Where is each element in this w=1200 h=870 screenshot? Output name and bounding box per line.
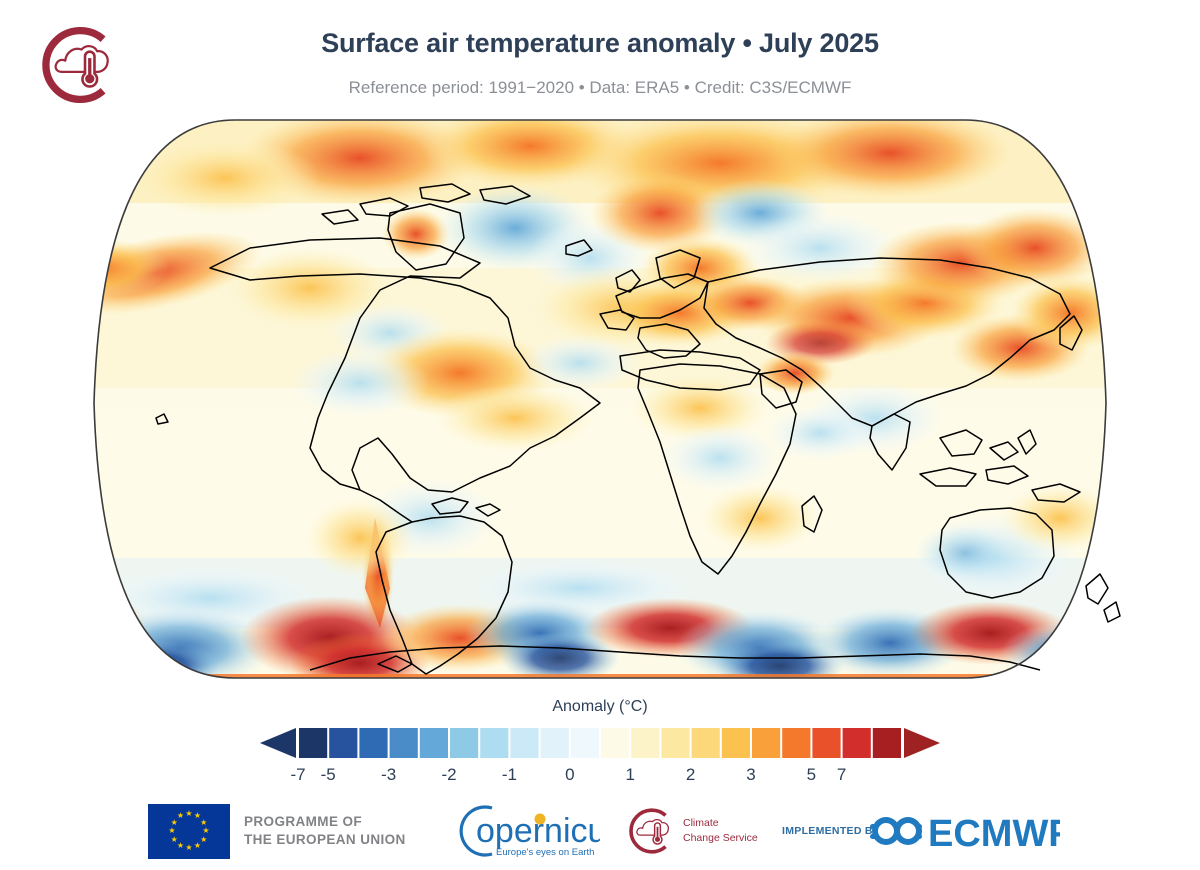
eu-programme-block: ★★★★★★★★★★★★ PROGRAMME OF THE EUROPEAN U…	[148, 792, 406, 870]
eu-line2: THE EUROPEAN UNION	[244, 831, 406, 849]
colorbar-cell	[873, 728, 901, 758]
colorbar-cell	[359, 728, 387, 758]
implemented-by-label: IMPLEMENTED BY	[782, 825, 880, 837]
colorbar-tick-label: -5	[321, 765, 336, 784]
anomaly-map	[60, 118, 1140, 688]
colorbar-label: Anomaly (°C)	[0, 698, 1200, 716]
colorbar-extend-max	[904, 728, 940, 758]
ecmwf-logo: ECMWF	[868, 792, 1060, 870]
colorbar-cell	[722, 728, 750, 758]
eu-star-icon: ★	[177, 842, 184, 850]
c3s-logo: Climate Change Service	[625, 792, 758, 870]
footer: ★★★★★★★★★★★★ PROGRAMME OF THE EUROPEAN U…	[0, 792, 1200, 870]
copernicus-tagline: Europe's eyes on Earth	[496, 847, 594, 858]
colorbar-cell	[480, 728, 508, 758]
eu-star-icon: ★	[194, 842, 201, 850]
colorbar-cell	[692, 728, 720, 758]
colorbar-cell	[299, 728, 327, 758]
colorbar-cell	[510, 728, 538, 758]
eu-star-icon: ★	[185, 844, 192, 852]
colorbar-tick-label: 3	[746, 765, 755, 784]
c3s-service-text: Climate Change Service	[683, 816, 758, 846]
eu-star-icon: ★	[171, 836, 178, 844]
colorbar-cell	[752, 728, 780, 758]
colorbar-tick-label: 5	[807, 765, 816, 784]
colorbar-tick-label: -3	[381, 765, 396, 784]
c3s-line1: Climate	[683, 816, 758, 831]
ecmwf-wordmark: ECMWF	[928, 813, 1060, 855]
colorbar-tick-label: 2	[686, 765, 695, 784]
colorbar-cell	[843, 728, 871, 758]
colorbar-cell	[661, 728, 689, 758]
colorbar-tick-label: 7	[837, 765, 846, 784]
colorbar-cell	[782, 728, 810, 758]
c3s-line2: Change Service	[683, 831, 758, 846]
colorbar-cell	[390, 728, 418, 758]
colorbar-tick-labels: -7-5-3-2-1012357	[290, 765, 846, 784]
colorbar-cell	[571, 728, 599, 758]
colorbar-cell	[631, 728, 659, 758]
header: Surface air temperature anomaly • July 2…	[0, 0, 1200, 118]
eu-flag-icon: ★★★★★★★★★★★★	[148, 804, 230, 859]
eu-star-icon: ★	[200, 836, 207, 844]
colorbar-cell	[601, 728, 629, 758]
colorbar-tick-label: -7	[290, 765, 305, 784]
colorbar-cell	[541, 728, 569, 758]
colorbar-cell	[420, 728, 448, 758]
copernicus-logo: opernicus Europe's eyes on Earth	[448, 792, 600, 870]
colorbar-extend-min	[260, 728, 296, 758]
page-title: Surface air temperature anomaly • July 2…	[0, 28, 1200, 59]
eu-star-icon: ★	[168, 827, 175, 835]
eu-star-icon: ★	[185, 810, 192, 818]
implemented-by-block: IMPLEMENTED BY	[782, 792, 880, 870]
colorbar-tick-label: -1	[502, 765, 517, 784]
colorbar-cell	[812, 728, 840, 758]
colorbar-tick-label: -2	[441, 765, 456, 784]
colorbar-cell	[329, 728, 357, 758]
colorbar-cells	[260, 728, 940, 758]
colorbar-cell	[450, 728, 478, 758]
colorbar: -7-5-3-2-1012357	[250, 724, 950, 786]
eu-line1: PROGRAMME OF	[244, 813, 406, 831]
colorbar-tick-label: 1	[625, 765, 634, 784]
eu-star-icon: ★	[177, 812, 184, 820]
page-subtitle: Reference period: 1991−2020 • Data: ERA5…	[0, 78, 1200, 98]
colorbar-tick-label: 0	[565, 765, 574, 784]
eu-programme-text: PROGRAMME OF THE EUROPEAN UNION	[244, 813, 406, 849]
